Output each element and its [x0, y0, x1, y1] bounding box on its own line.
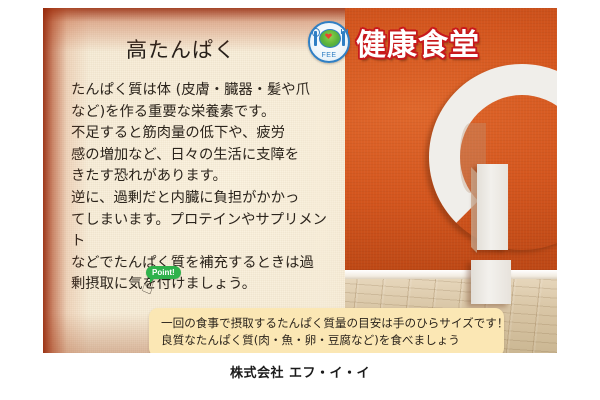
- fee-logo-icon: FEE: [308, 21, 350, 63]
- question-mark-dot: [471, 260, 511, 304]
- footer-company-name: 株式会社 エフ・イ・イ: [0, 362, 600, 381]
- plate-icon: [319, 29, 341, 48]
- caption-box: 一回の食事で摂取するたんぱく質量の目安は手のひらサイズです！ 良質なたんぱく質(…: [149, 308, 504, 353]
- question-mark-prop: [423, 64, 557, 284]
- fork-icon: [342, 31, 345, 46]
- caption-line-1: 一回の食事で摂取するたんぱく質量の目安は手のひらサイズです！: [161, 315, 494, 332]
- brand-name: 健康食堂: [356, 20, 480, 64]
- article-panel: 高たんぱく たんぱく質は体 (皮膚・臓器・髪や爪 など)を作る重要な栄養素です。…: [43, 8, 345, 353]
- caption-line-2: 良質なたんぱく質(肉・魚・卵・豆腐など)を食べましょう: [161, 332, 494, 349]
- logo-text: FEE: [310, 52, 348, 59]
- brand-header: FEE 健康食堂: [308, 20, 480, 64]
- panel-vignette-overlay: [43, 8, 345, 353]
- poster-stage: 高たんぱく たんぱく質は体 (皮膚・臓器・髪や爪 など)を作る重要な栄養素です。…: [43, 8, 557, 353]
- spoon-icon: [314, 31, 317, 46]
- question-mark-stem: [477, 164, 508, 250]
